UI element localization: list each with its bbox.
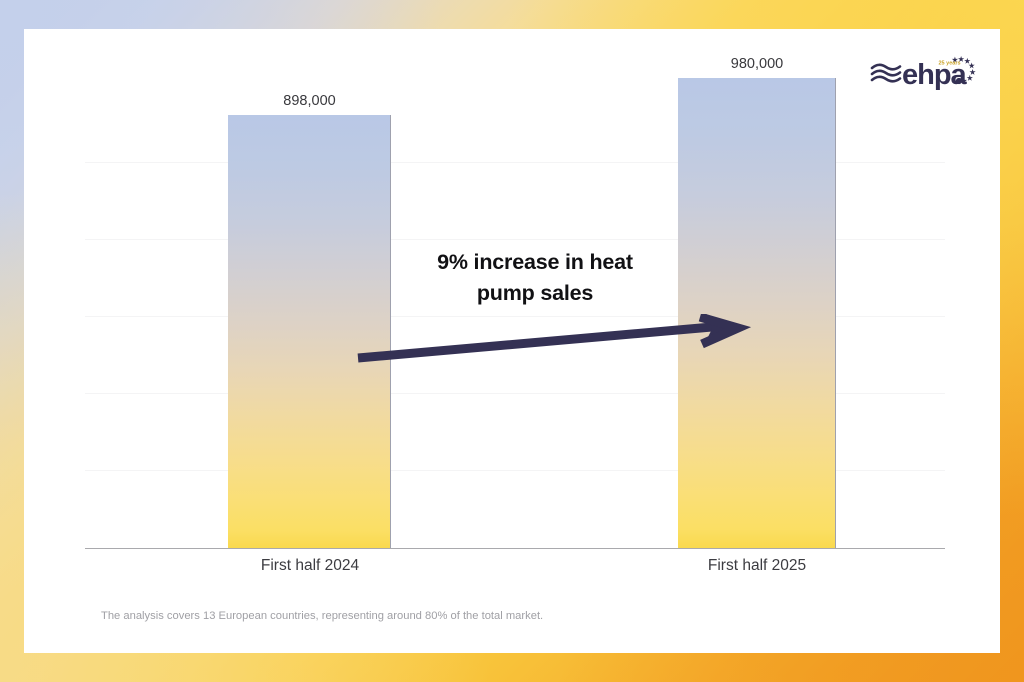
annotation-line-2: pump sales — [390, 278, 680, 309]
x-axis-line — [85, 548, 945, 549]
bar-first-half-2025[interactable] — [678, 78, 836, 548]
chart-footnote: The analysis covers 13 European countrie… — [101, 610, 543, 622]
bar-value-label-2025: 980,000 — [678, 56, 836, 72]
x-axis-label-2024: First half 2024 — [222, 557, 398, 575]
decorative-gradient-frame: ehpa 25 years — [0, 0, 1024, 682]
chart-card: ehpa 25 years — [24, 29, 1000, 653]
bar-value-label-2024: 898,000 — [228, 93, 391, 109]
growth-arrow-icon — [354, 314, 754, 374]
chart-annotation-text: 9% increase in heat pump sales — [390, 247, 680, 308]
annotation-line-1: 9% increase in heat — [390, 247, 680, 278]
x-axis-label-2025: First half 2025 — [669, 557, 845, 575]
bar-chart-plot: 898,000 980,000 First half 2024 First ha… — [24, 29, 1000, 653]
